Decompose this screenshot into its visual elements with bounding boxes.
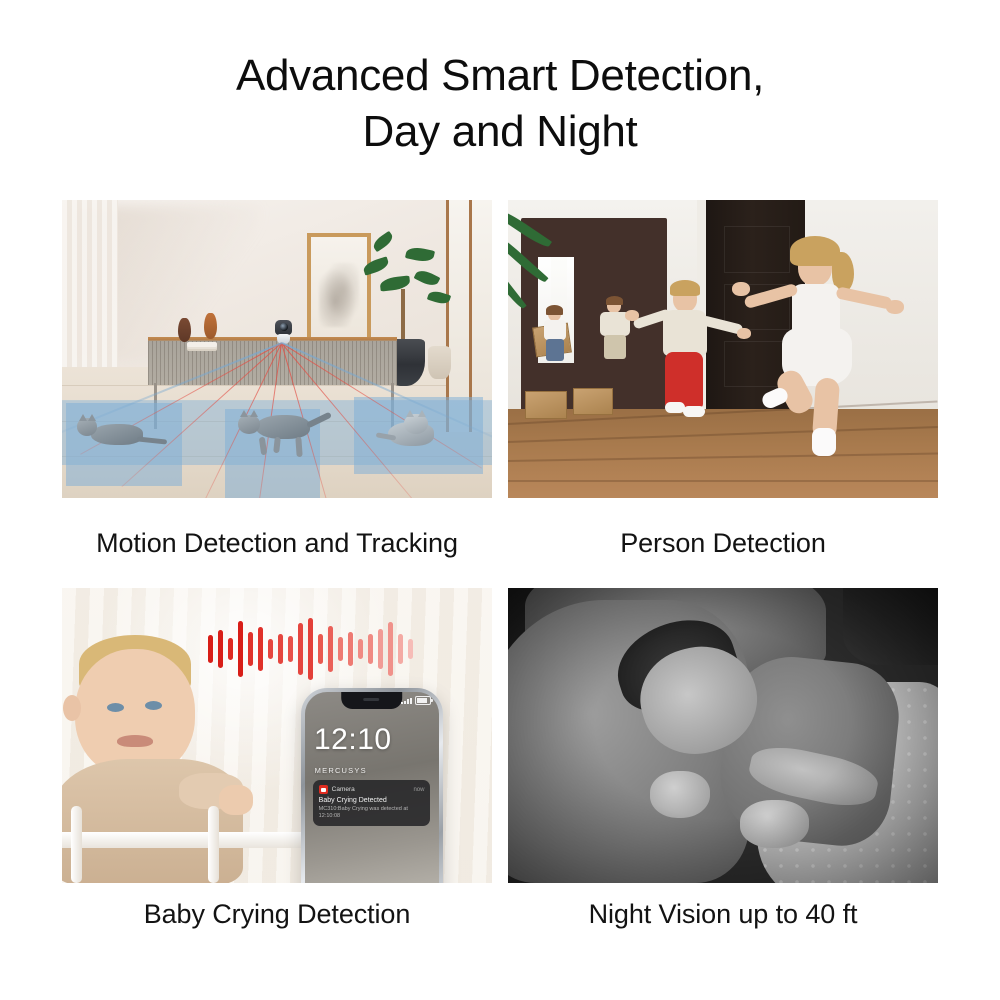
person-legs — [604, 335, 626, 359]
baby-hand — [219, 785, 253, 815]
notification-group-label: MERCUSYS — [315, 766, 367, 775]
waveform-bar — [318, 634, 323, 664]
person-arm — [744, 283, 799, 309]
waveform-bar — [208, 635, 213, 663]
decor-vase — [178, 318, 191, 342]
waveform-bar — [268, 639, 273, 659]
person-hand — [732, 282, 750, 296]
feature-grid: Motion Detection and Tracking Person Det… — [62, 200, 938, 945]
person-torso — [544, 320, 566, 340]
panel-baby-crying-detection: 12:10 MERCUSYS Camera now Baby Crying De… — [62, 588, 492, 883]
notification-body: MC310:Baby Crying was detected at 12:10:… — [319, 806, 425, 820]
battery-icon — [415, 696, 431, 705]
person-adult-man — [594, 298, 640, 360]
signal-bars-icon — [401, 698, 412, 705]
panel-night-vision — [508, 588, 938, 883]
smartphone[interactable]: 12:10 MERCUSYS Camera now Baby Crying De… — [301, 688, 443, 883]
cat-leg — [295, 436, 302, 456]
waveform-bar — [368, 634, 373, 664]
cat-head — [238, 415, 260, 434]
person-child-boy — [637, 280, 757, 430]
crib-bar — [208, 806, 219, 883]
baby-head — [75, 649, 195, 777]
notification-header: Camera now — [319, 785, 425, 794]
floor-vase — [428, 346, 452, 379]
camera-lens-icon — [280, 323, 288, 331]
waveform-bar — [328, 626, 333, 672]
cat-body — [256, 415, 310, 439]
floor-seam — [62, 385, 492, 386]
waveform-bar — [258, 627, 263, 671]
nursery-scene: 12:10 MERCUSYS Camera now Baby Crying De… — [62, 588, 492, 883]
waveform-bar — [338, 637, 343, 661]
notification-timestamp: now — [413, 787, 424, 793]
waveform-bar — [378, 629, 383, 669]
caption-night-vision: Night Vision up to 40 ft — [508, 883, 938, 945]
living-room-scene — [62, 200, 492, 498]
waveform-bar — [228, 638, 233, 660]
crib-bar — [71, 806, 82, 883]
caption-person-detection: Person Detection — [508, 498, 938, 588]
hallway-scene — [508, 200, 938, 498]
decor-books — [187, 342, 217, 347]
cat-left — [75, 412, 167, 452]
night-vision-scene — [508, 588, 938, 883]
cat-leg — [273, 436, 281, 453]
night-vignette — [508, 588, 938, 883]
caption-motion-detection: Motion Detection and Tracking — [62, 498, 492, 588]
notification-title: Baby Crying Detected — [319, 797, 425, 804]
person-hair — [606, 296, 623, 305]
page-title: Advanced Smart Detection, Day and Night — [0, 48, 1000, 161]
cat-ear — [406, 410, 414, 417]
cat-ear — [418, 410, 426, 417]
cat-head — [404, 414, 428, 434]
waveform-bar — [218, 630, 223, 668]
person-child-girl — [740, 230, 900, 460]
camera-head — [275, 320, 292, 335]
phone-status-bar — [401, 696, 431, 705]
framed-artwork — [307, 233, 371, 351]
waveform-bar — [298, 623, 303, 675]
person-arm — [836, 286, 893, 309]
cat-ear — [79, 414, 87, 421]
waveform-bar — [408, 639, 413, 659]
security-camera-device — [275, 320, 292, 344]
camera-app-icon — [319, 785, 328, 794]
crib-rail — [62, 832, 320, 848]
person-hair — [670, 280, 700, 296]
baby-mouth — [117, 735, 153, 747]
cat-ear — [250, 410, 258, 417]
cat-body — [91, 424, 143, 445]
lockscreen-time: 12:10 — [314, 723, 392, 757]
person-hand — [886, 300, 904, 314]
waveform-bar — [388, 622, 393, 676]
waveform-bar — [308, 618, 313, 680]
notification-card[interactable]: Camera now Baby Crying Detected MC310:Ba… — [313, 780, 431, 826]
artwork-ink — [319, 263, 359, 327]
waveform-bar — [358, 639, 363, 659]
person-legs — [665, 352, 703, 408]
page-title-line-1: Advanced Smart Detection, — [0, 48, 1000, 104]
cat-leg — [259, 436, 267, 455]
cat-tail — [306, 411, 332, 428]
plant-trunk — [401, 289, 405, 343]
person-adult-woman — [538, 307, 578, 363]
notification-app-name: Camera — [332, 786, 355, 793]
moving-box — [525, 391, 567, 419]
panel-motion-detection — [62, 200, 492, 498]
page-title-line-2: Day and Night — [0, 104, 1000, 160]
waveform-bar — [398, 634, 403, 664]
phone-speaker — [364, 698, 380, 701]
floor-plank — [508, 480, 938, 482]
person-sock — [812, 428, 836, 456]
decor-vase — [204, 313, 217, 339]
sound-waveform — [208, 618, 413, 680]
person-sock — [665, 402, 685, 413]
cat-ear — [88, 414, 96, 421]
cat-right — [376, 412, 448, 452]
waveform-bar — [278, 634, 283, 664]
cat-tail — [137, 436, 167, 444]
waveform-bar — [238, 621, 243, 677]
phone-screen[interactable]: 12:10 MERCUSYS Camera now Baby Crying De… — [305, 692, 439, 883]
waveform-bar — [348, 632, 353, 666]
panel-person-detection — [508, 200, 938, 498]
caption-baby-crying-detection: Baby Crying Detection — [62, 883, 492, 945]
phone-notch — [341, 692, 403, 709]
waveform-bar — [288, 636, 293, 662]
person-legs — [546, 339, 564, 361]
cat-center — [234, 409, 334, 461]
person-sock — [683, 406, 705, 417]
person-hair — [546, 305, 563, 315]
moving-box — [573, 388, 613, 415]
cat-ear — [240, 410, 248, 417]
waveform-bar — [248, 632, 253, 666]
